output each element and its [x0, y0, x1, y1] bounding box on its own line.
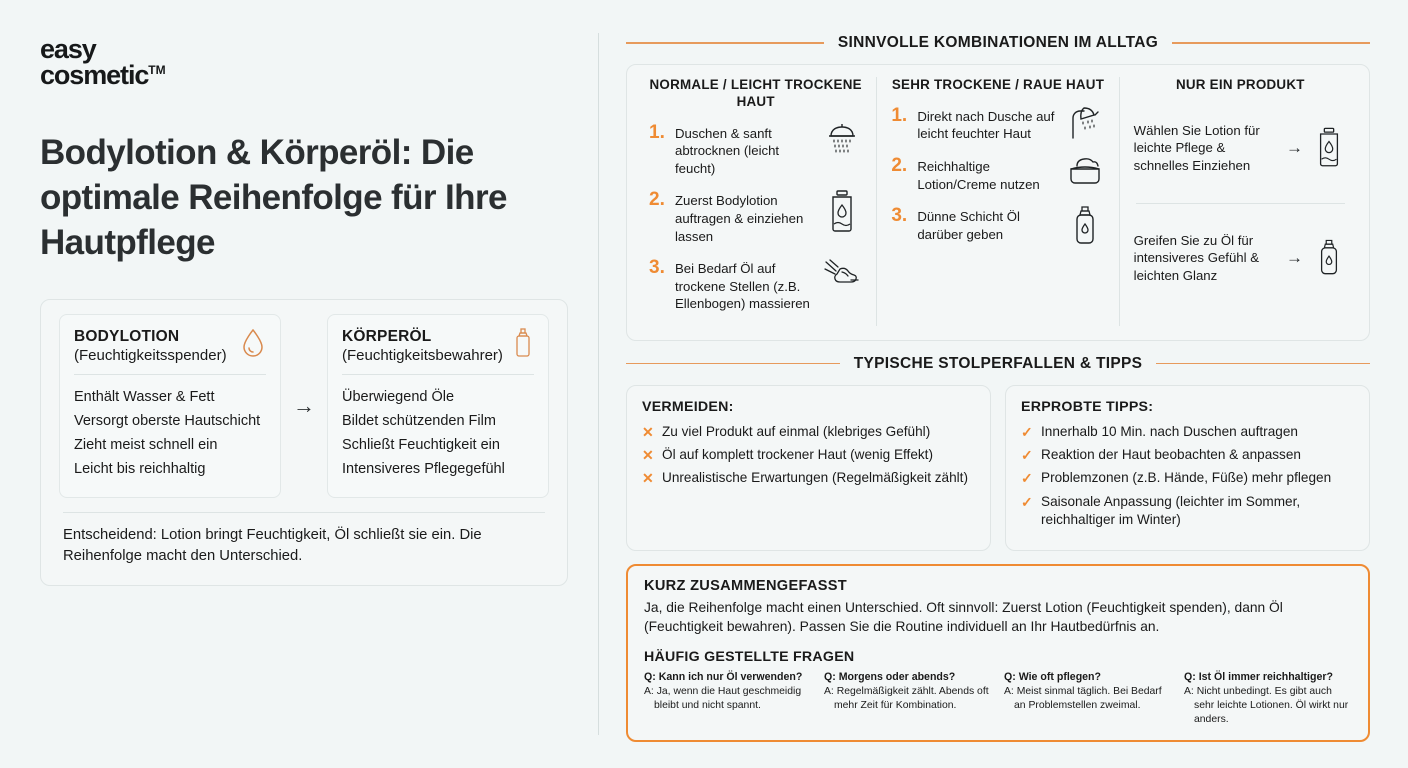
combo-column-trockene-haut: SEHR TROCKENE / RAUE HAUT 1. Direkt nach… [876, 77, 1118, 326]
faq-question: Q: Kann ich nur Öl verwenden? [644, 671, 812, 685]
comparison-footer-text: Entscheidend: Lotion bringt Feuchtigkeit… [59, 525, 549, 567]
cross-icon: ✕ [642, 446, 654, 465]
rule-left [626, 363, 840, 365]
summary-heading: KURZ ZUSAMMENGEFASST [644, 578, 1352, 594]
arrow-right-icon: → [1286, 138, 1303, 158]
column-divider [598, 33, 599, 735]
combo-column-nur-ein-produkt: NUR EIN PRODUKT Wählen Sie Lotion für le… [1119, 77, 1361, 326]
rule-left [626, 42, 824, 44]
cream-jar-icon [1065, 156, 1105, 186]
comparison-panel: BODYLOTION (Feuchtigkeitsspender) Enth [40, 299, 568, 586]
massage-hand-icon [822, 258, 862, 294]
tip-text: Innerhalb 10 Min. nach Duschen auftragen [1041, 423, 1298, 442]
faq-answer: A: Regelmäßigkeit zählt. Abends oft mehr… [824, 685, 992, 712]
avoid-item: ✕ Unrealistische Erwartungen (Regelmäßig… [642, 469, 975, 488]
divider [63, 512, 545, 513]
cross-icon: ✕ [642, 423, 654, 442]
trademark-symbol: TM [148, 63, 165, 77]
avoid-box: VERMEIDEN: ✕ Zu viel Produkt auf einmal … [626, 385, 991, 551]
brand-logo: easy cosmeticTM [40, 36, 568, 89]
lotion-tube-icon [822, 190, 862, 234]
step-item: 2. Reichhaltige Lotion/Creme nutzen [891, 156, 1104, 193]
column-title: SEHR TROCKENE / RAUE HAUT [891, 77, 1104, 94]
droplet-icon [240, 327, 266, 359]
check-icon: ✓ [1021, 446, 1033, 465]
koerperoel-list: Überwiegend Öle Bildet schützenden Film … [342, 386, 534, 481]
divider [342, 374, 534, 375]
section-title: TYPISCHE STOLPERFALLEN & TIPPS [854, 355, 1143, 373]
oil-bottle-icon [1311, 239, 1347, 277]
left-column: easy cosmeticTM Bodylotion & Körperöl: D… [0, 0, 598, 768]
tip-item: ✓ Saisonale Anpassung (leichter im Somme… [1021, 493, 1354, 531]
divider [1136, 203, 1345, 204]
avoid-item: ✕ Zu viel Produkt auf einmal (klebriges … [642, 423, 975, 442]
step-text: Dünne Schicht Öl darüber geben [917, 206, 1057, 243]
shower-head-icon [822, 123, 862, 157]
step-item: 2. Zuerst Bodylotion auftragen & einzieh… [649, 190, 862, 245]
list-item: Intensiveres Pflegegefühl [342, 458, 534, 482]
right-column: SINNVOLLE KOMBINATIONEN IM ALLTAG NORMAL… [598, 0, 1408, 768]
step-number: 1. [891, 106, 910, 126]
list-item: Überwiegend Öle [342, 386, 534, 410]
comparison-card-koerperoel: KÖRPERÖL (Feuchtigkeitsbewahrer) [327, 314, 549, 498]
faq-question: Q: Morgens oder abends? [824, 671, 992, 685]
check-icon: ✓ [1021, 469, 1033, 488]
arrow-right-icon: → [1286, 248, 1303, 268]
combinations-panel: NORMALE / LEICHT TROCKENE HAUT 1. Dusche… [626, 64, 1370, 341]
faq-question: Q: Ist Öl immer reichhaltiger? [1184, 671, 1352, 685]
step-text: Zuerst Bodylotion auftragen & einziehen … [675, 190, 815, 245]
tip-item: ✓ Reaktion der Haut beobachten & anpasse… [1021, 446, 1354, 465]
faq-item: Q: Ist Öl immer reichhaltiger? A: Nicht … [1184, 671, 1352, 726]
faq-answer: A: Nicht unbedingt. Es gibt auch sehr le… [1184, 685, 1352, 726]
column-title: NUR EIN PRODUKT [1134, 77, 1347, 94]
check-icon: ✓ [1021, 423, 1033, 442]
bodylotion-title: BODYLOTION [74, 327, 227, 346]
pitfalls-section-header: TYPISCHE STOLPERFALLEN & TIPPS [626, 355, 1370, 373]
step-number: 1. [649, 123, 668, 143]
step-number: 2. [649, 190, 668, 210]
bodylotion-list: Enthält Wasser & Fett Versorgt oberste H… [74, 386, 266, 481]
avoid-text: Zu viel Produkt auf einmal (klebriges Ge… [662, 423, 930, 442]
divider [74, 374, 266, 375]
faq-item: Q: Kann ich nur Öl verwenden? A: Ja, wen… [644, 671, 812, 726]
item-text: Greifen Sie zu Öl für intensiveres Gefüh… [1134, 232, 1278, 285]
brand-line-2: cosmetic [40, 60, 148, 90]
infographic-page: easy cosmeticTM Bodylotion & Körperöl: D… [0, 0, 1408, 768]
lotion-tube-icon [1311, 127, 1347, 169]
single-product-item: Greifen Sie zu Öl für intensiveres Gefüh… [1134, 230, 1347, 287]
faq-answer: A: Ja, wenn die Haut geschmeidig bleibt … [644, 685, 812, 712]
faq-item: Q: Wie oft pflegen? A: Meist sinmal tägl… [1004, 671, 1172, 726]
bodylotion-subtitle: (Feuchtigkeitsspender) [74, 347, 227, 366]
item-text: Wählen Sie Lotion für leichte Pflege & s… [1134, 122, 1278, 175]
faq-item: Q: Morgens oder abends? A: Regelmäßigkei… [824, 671, 992, 726]
tips-heading: ERPROBTE TIPPS: [1021, 399, 1354, 415]
dropper-bottle-icon [512, 327, 534, 361]
step-item: 1. Direkt nach Dusche auf leicht feuchte… [891, 106, 1104, 143]
step-number: 3. [649, 258, 668, 278]
list-item: Leicht bis reichhaltig [74, 458, 266, 482]
check-icon: ✓ [1021, 493, 1033, 512]
koerperoel-subtitle: (Feuchtigkeitsbewahrer) [342, 347, 503, 366]
page-title: Bodylotion & Körperöl: Die optimale Reih… [40, 131, 568, 265]
step-item: 3. Bei Bedarf Öl auf trockene Stellen (z… [649, 258, 862, 313]
list-item: Versorgt oberste Hautschicht [74, 410, 266, 434]
combo-column-normale-haut: NORMALE / LEICHT TROCKENE HAUT 1. Dusche… [635, 77, 876, 326]
cross-icon: ✕ [642, 469, 654, 488]
list-item: Zieht meist schnell ein [74, 434, 266, 458]
summary-body: Ja, die Reihenfolge macht einen Untersch… [644, 599, 1352, 636]
step-item: 3. Dünne Schicht Öl darüber geben [891, 206, 1104, 246]
step-text: Direkt nach Dusche auf leicht feuchter H… [917, 106, 1057, 143]
step-text: Duschen & sanft abtrocknen (leicht feuch… [675, 123, 815, 178]
rule-right [1156, 363, 1370, 365]
avoid-text: Öl auf komplett trockener Haut (wenig Ef… [662, 446, 933, 465]
step-number: 2. [891, 156, 910, 176]
avoid-heading: VERMEIDEN: [642, 399, 975, 415]
tips-box: ERPROBTE TIPPS: ✓ Innerhalb 10 Min. nach… [1005, 385, 1370, 551]
step-text: Bei Bedarf Öl auf trockene Stellen (z.B.… [675, 258, 815, 313]
faq-question: Q: Wie oft pflegen? [1004, 671, 1172, 685]
comparison-arrow: → [281, 314, 327, 498]
faq-list: Q: Kann ich nur Öl verwenden? A: Ja, wen… [644, 671, 1352, 726]
combinations-section-header: SINNVOLLE KOMBINATIONEN IM ALLTAG [626, 34, 1370, 52]
list-item: Enthält Wasser & Fett [74, 386, 266, 410]
tip-text: Problemzonen (z.B. Hände, Füße) mehr pfl… [1041, 469, 1331, 488]
rule-right [1172, 42, 1370, 44]
single-product-item: Wählen Sie Lotion für leichte Pflege & s… [1134, 120, 1347, 177]
avoid-text: Unrealistische Erwartungen (Regelmäßigke… [662, 469, 968, 488]
oil-bottle-icon [1065, 206, 1105, 246]
section-title: SINNVOLLE KOMBINATIONEN IM ALLTAG [838, 34, 1158, 52]
list-item: Bildet schützenden Film [342, 410, 534, 434]
step-number: 3. [891, 206, 910, 226]
faq-answer: A: Meist sinmal täglich. Bei Bedarf an P… [1004, 685, 1172, 712]
shower-icon [1065, 106, 1105, 142]
koerperoel-title: KÖRPERÖL [342, 327, 503, 346]
faq-heading: HÄUFIG GESTELLTE FRAGEN [644, 649, 1352, 665]
column-title: NORMALE / LEICHT TROCKENE HAUT [649, 77, 862, 111]
step-item: 1. Duschen & sanft abtrocknen (leicht fe… [649, 123, 862, 178]
comparison-card-bodylotion: BODYLOTION (Feuchtigkeitsspender) Enth [59, 314, 281, 498]
avoid-item: ✕ Öl auf komplett trockener Haut (wenig … [642, 446, 975, 465]
summary-box: KURZ ZUSAMMENGEFASST Ja, die Reihenfolge… [626, 564, 1370, 742]
tip-item: ✓ Innerhalb 10 Min. nach Duschen auftrag… [1021, 423, 1354, 442]
list-item: Schließt Feuchtigkeit ein [342, 434, 534, 458]
tip-item: ✓ Problemzonen (z.B. Hände, Füße) mehr p… [1021, 469, 1354, 488]
tip-text: Saisonale Anpassung (leichter im Sommer,… [1041, 493, 1354, 531]
step-text: Reichhaltige Lotion/Creme nutzen [917, 156, 1057, 193]
tip-text: Reaktion der Haut beobachten & anpassen [1041, 446, 1301, 465]
